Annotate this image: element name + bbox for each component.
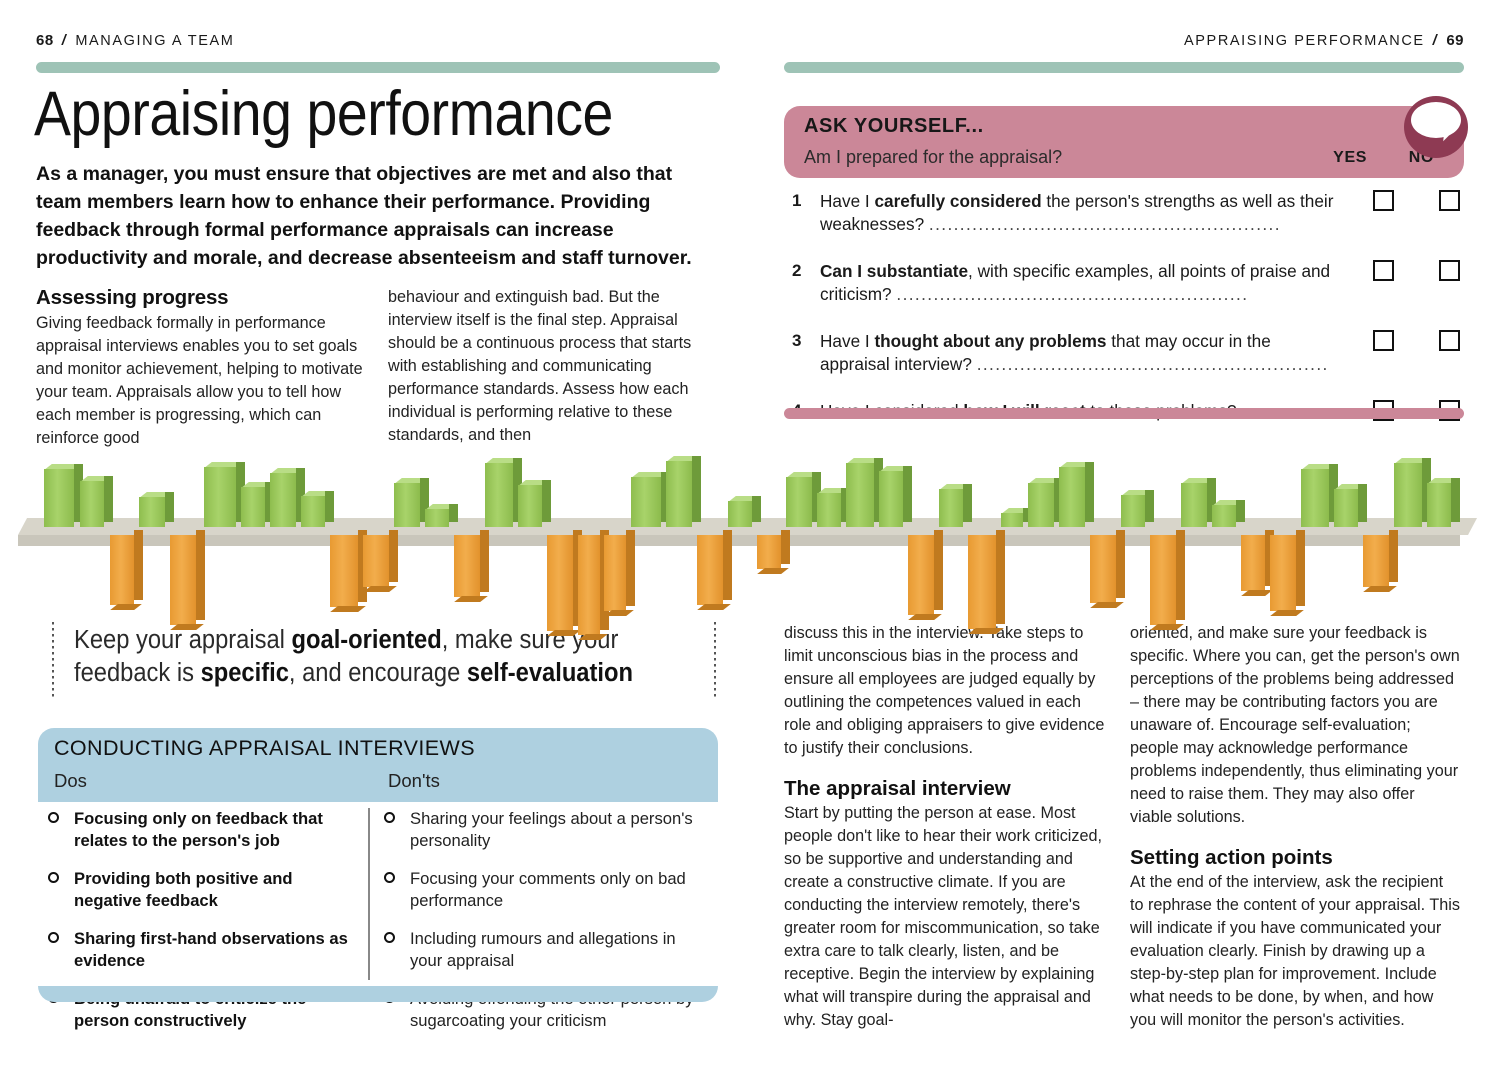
checkbox-no[interactable] bbox=[1439, 260, 1460, 281]
bar-negative bbox=[1150, 535, 1176, 625]
bar-front-face bbox=[270, 473, 296, 527]
bar-bottom-face bbox=[697, 604, 731, 610]
dos-list-item: Focusing only on feedback that relates t… bbox=[46, 808, 364, 851]
speech-bubble-tail bbox=[1443, 125, 1458, 142]
dotted-rule-left bbox=[52, 622, 54, 700]
bar-side-face bbox=[1085, 462, 1094, 522]
bar-side-face bbox=[1451, 478, 1460, 522]
bar-front-face bbox=[363, 535, 389, 587]
checkbox-no[interactable] bbox=[1439, 330, 1460, 351]
bar-positive bbox=[1301, 469, 1329, 527]
bar-negative bbox=[1270, 535, 1296, 611]
bar-positive bbox=[1212, 505, 1236, 527]
running-head-right: APPRAISING PERFORMANCE/69 bbox=[1184, 32, 1464, 49]
bar-front-face bbox=[1394, 463, 1422, 527]
bar-bottom-face bbox=[604, 610, 634, 616]
circle-bullet-icon bbox=[48, 872, 59, 883]
bar-side-face bbox=[1296, 530, 1305, 606]
bar-side-face bbox=[692, 456, 701, 522]
dos-list-item: Sharing first-hand observations as evide… bbox=[46, 928, 364, 971]
running-head-left: 68/MANAGING A TEAM bbox=[36, 32, 234, 49]
bar-front-face bbox=[1334, 489, 1358, 527]
bar-bottom-face bbox=[1241, 590, 1273, 596]
yes-column-header: YES bbox=[1333, 149, 1367, 167]
bar-negative bbox=[1241, 535, 1265, 591]
dos-donts-panel-header: CONDUCTING APPRAISAL INTERVIEWS Dos Don'… bbox=[38, 728, 718, 802]
bar-positive bbox=[1001, 513, 1023, 527]
bar-front-face bbox=[1059, 467, 1085, 527]
bar-negative bbox=[1090, 535, 1116, 603]
chapter-title-left: MANAGING A TEAM bbox=[75, 33, 234, 49]
bar-negative bbox=[363, 535, 389, 587]
bar-front-face bbox=[604, 535, 626, 611]
header-rule-right bbox=[784, 62, 1464, 73]
bar-positive bbox=[1059, 467, 1085, 527]
bar-positive bbox=[786, 477, 812, 527]
bar-side-face bbox=[626, 530, 635, 606]
bar-positive bbox=[485, 463, 513, 527]
dos-donts-title: CONDUCTING APPRAISAL INTERVIEWS bbox=[54, 736, 475, 761]
bar-negative bbox=[968, 535, 996, 629]
bar-front-face bbox=[908, 535, 934, 615]
bar-positive bbox=[879, 471, 903, 527]
bar-negative bbox=[697, 535, 723, 605]
bar-side-face bbox=[934, 530, 943, 610]
checklist-row: 3Have I thought about any problems that … bbox=[792, 330, 1464, 386]
bar-side-face bbox=[1236, 500, 1245, 522]
checklist-row: 2Can I substantiate, with specific examp… bbox=[792, 260, 1464, 316]
bar-front-face bbox=[170, 535, 196, 625]
bar-front-face bbox=[578, 535, 600, 635]
page-spread: 68/MANAGING A TEAM APPRAISING PERFORMANC… bbox=[0, 0, 1500, 1072]
bar-bottom-face bbox=[110, 604, 142, 610]
bar-negative bbox=[110, 535, 134, 605]
assessing-progress-column-b: behaviour and extinguish bad. But the in… bbox=[388, 286, 718, 447]
bar-front-face bbox=[80, 481, 104, 527]
bar-positive bbox=[666, 461, 692, 527]
page-title: Appraising performance bbox=[34, 78, 613, 150]
bar-front-face bbox=[204, 467, 236, 527]
bar-side-face bbox=[134, 530, 143, 600]
bar-positive bbox=[817, 493, 841, 527]
ask-yourself-panel: ASK YOURSELF... Am I prepared for the ap… bbox=[784, 106, 1464, 178]
dotted-rule-right bbox=[714, 622, 716, 700]
pull-quote-emphasis: self-evaluation bbox=[467, 659, 633, 687]
checklist-question: Can I substantiate, with specific exampl… bbox=[820, 260, 1340, 307]
bar-positive bbox=[204, 467, 236, 527]
column-d-paragraph-1: oriented, and make sure your feedback is… bbox=[1130, 622, 1460, 829]
bar-negative bbox=[578, 535, 600, 635]
checkbox-yes[interactable] bbox=[1373, 260, 1394, 281]
bar-bottom-face bbox=[1363, 586, 1397, 592]
dos-donts-panel-footer bbox=[38, 986, 718, 1002]
column-d-paragraph-2: At the end of the interview, ask the rec… bbox=[1130, 871, 1460, 1032]
bar-positive bbox=[80, 481, 104, 527]
donts-list: Sharing your feelings about a person's p… bbox=[382, 808, 700, 1049]
bar-front-face bbox=[817, 493, 841, 527]
checklist-question: Have I carefully considered the person's… bbox=[820, 190, 1340, 237]
bar-side-face bbox=[723, 530, 732, 600]
folio-right: 69 bbox=[1446, 32, 1464, 49]
bar-negative bbox=[1363, 535, 1389, 587]
bar-front-face bbox=[939, 489, 963, 527]
bar-side-face bbox=[165, 492, 174, 522]
assessing-progress-text-b: behaviour and extinguish bad. But the in… bbox=[388, 286, 718, 447]
bar-side-face bbox=[449, 504, 458, 522]
dos-list: Focusing only on feedback that relates t… bbox=[46, 808, 364, 1049]
bar-side-face bbox=[1176, 530, 1185, 620]
circle-bullet-icon bbox=[384, 932, 395, 943]
bar-front-face bbox=[454, 535, 480, 597]
bar-front-face bbox=[879, 471, 903, 527]
bar-front-face bbox=[1181, 483, 1207, 527]
bar-front-face bbox=[1090, 535, 1116, 603]
circle-bullet-icon bbox=[48, 932, 59, 943]
bar-front-face bbox=[631, 477, 661, 527]
bar-chart-illustration bbox=[18, 432, 1482, 612]
bar-positive bbox=[728, 501, 752, 527]
bar-front-face bbox=[666, 461, 692, 527]
bar-side-face bbox=[542, 480, 551, 522]
bar-front-face bbox=[394, 483, 420, 527]
circle-bullet-icon bbox=[384, 872, 395, 883]
bar-negative bbox=[547, 535, 573, 631]
bar-side-face bbox=[325, 491, 334, 522]
column-c-paragraph-1: discuss this in the interview. Take step… bbox=[784, 622, 1110, 760]
bar-front-face bbox=[1270, 535, 1296, 611]
bar-negative bbox=[757, 535, 781, 569]
bar-bottom-face bbox=[1270, 610, 1304, 616]
bar-bottom-face bbox=[330, 606, 366, 612]
bar-side-face bbox=[480, 530, 489, 592]
bar-front-face bbox=[1121, 495, 1145, 527]
setting-action-points-heading: Setting action points bbox=[1130, 846, 1460, 870]
bar-front-face bbox=[1150, 535, 1176, 625]
circle-bullet-icon bbox=[48, 812, 59, 823]
bar-positive bbox=[1181, 483, 1207, 527]
ask-yourself-question: Am I prepared for the appraisal? bbox=[804, 147, 1062, 168]
bar-side-face bbox=[903, 466, 912, 522]
bar-front-face bbox=[241, 487, 265, 527]
bar-side-face bbox=[996, 530, 1005, 624]
bar-front-face bbox=[1301, 469, 1329, 527]
bar-bottom-face bbox=[908, 614, 942, 620]
column-c: discuss this in the interview. Take step… bbox=[784, 622, 1110, 1032]
bar-side-face bbox=[752, 496, 761, 522]
slash-right: / bbox=[1433, 33, 1439, 49]
assessing-progress-text-a: Giving feedback formally in performance … bbox=[36, 312, 366, 450]
bar-front-face bbox=[1427, 483, 1451, 527]
donts-list-item: Focusing your comments only on bad perfo… bbox=[382, 868, 700, 911]
assessing-progress-heading: Assessing progress bbox=[36, 286, 366, 310]
checklist-number: 1 bbox=[792, 191, 810, 211]
bar-positive bbox=[518, 485, 542, 527]
bar-side-face bbox=[963, 484, 972, 522]
checklist-question: Have I thought about any problems that m… bbox=[820, 330, 1340, 377]
bar-front-face bbox=[518, 485, 542, 527]
bar-front-face bbox=[728, 501, 752, 527]
bar-front-face bbox=[44, 469, 74, 527]
bar-front-face bbox=[301, 496, 325, 527]
slash-left: / bbox=[62, 33, 68, 49]
donts-column-label: Don'ts bbox=[388, 770, 440, 792]
folio-left: 68 bbox=[36, 32, 54, 49]
checkbox-yes[interactable] bbox=[1373, 190, 1394, 211]
bar-front-face bbox=[1001, 513, 1023, 527]
column-d: oriented, and make sure your feedback is… bbox=[1130, 622, 1460, 1032]
bar-positive bbox=[425, 509, 449, 527]
dos-donts-divider bbox=[368, 808, 370, 980]
bar-positive bbox=[394, 483, 420, 527]
dos-list-item: Providing both positive and negative fee… bbox=[46, 868, 364, 911]
pull-quote-emphasis: specific bbox=[201, 659, 289, 687]
bar-side-face bbox=[1145, 490, 1154, 522]
bar-front-face bbox=[547, 535, 573, 631]
checkbox-no[interactable] bbox=[1439, 190, 1460, 211]
bar-front-face bbox=[1028, 483, 1054, 527]
bar-negative bbox=[908, 535, 934, 615]
pink-divider-rule bbox=[784, 408, 1464, 419]
bar-front-face bbox=[757, 535, 781, 569]
bar-front-face bbox=[1241, 535, 1265, 591]
bar-positive bbox=[939, 489, 963, 527]
appraisal-interview-heading: The appraisal interview bbox=[784, 777, 1110, 801]
bar-negative bbox=[170, 535, 196, 625]
bar-front-face bbox=[110, 535, 134, 605]
bar-side-face bbox=[1389, 530, 1398, 582]
bar-positive bbox=[1028, 483, 1054, 527]
bar-positive bbox=[139, 497, 165, 527]
bar-front-face bbox=[330, 535, 358, 607]
bar-positive bbox=[270, 473, 296, 527]
checklist-row: 1Have I carefully considered the person'… bbox=[792, 190, 1464, 246]
bar-positive bbox=[1394, 463, 1422, 527]
speech-bubble-icon bbox=[1404, 96, 1468, 158]
bar-bottom-face bbox=[1090, 602, 1124, 608]
checkbox-yes[interactable] bbox=[1373, 330, 1394, 351]
standfirst-paragraph: As a manager, you must ensure that objec… bbox=[36, 160, 696, 272]
bar-bottom-face bbox=[757, 568, 789, 574]
bar-side-face bbox=[389, 530, 398, 582]
bar-front-face bbox=[139, 497, 165, 527]
bar-positive bbox=[846, 463, 874, 527]
bar-bottom-face bbox=[454, 596, 488, 602]
column-c-paragraph-2: Start by putting the person at ease. Mos… bbox=[784, 802, 1110, 1032]
bar-side-face bbox=[196, 530, 205, 620]
dos-column-label: Dos bbox=[54, 770, 87, 792]
donts-list-item: Including rumours and allegations in you… bbox=[382, 928, 700, 971]
pull-quote-block: Keep your appraisal goal-oriented, make … bbox=[52, 622, 716, 700]
header-rule-left bbox=[36, 62, 720, 73]
bar-front-face bbox=[697, 535, 723, 605]
bar-side-face bbox=[1116, 530, 1125, 598]
bar-bottom-face bbox=[363, 586, 397, 592]
bar-positive bbox=[241, 487, 265, 527]
bar-front-face bbox=[485, 463, 513, 527]
bar-front-face bbox=[846, 463, 874, 527]
bar-front-face bbox=[1212, 505, 1236, 527]
bar-positive bbox=[1334, 489, 1358, 527]
bar-side-face bbox=[104, 476, 113, 522]
ask-yourself-title: ASK YOURSELF... bbox=[804, 115, 984, 138]
ask-yourself-checklist: 1Have I carefully considered the person'… bbox=[792, 190, 1464, 470]
bar-positive bbox=[44, 469, 74, 527]
bar-positive bbox=[631, 477, 661, 527]
bar-negative bbox=[604, 535, 626, 611]
circle-bullet-icon bbox=[384, 812, 395, 823]
bar-positive bbox=[1121, 495, 1145, 527]
donts-list-item: Sharing your feelings about a person's p… bbox=[382, 808, 700, 851]
bar-side-face bbox=[1358, 484, 1367, 522]
bar-front-face bbox=[968, 535, 996, 629]
bar-positive bbox=[1427, 483, 1451, 527]
bar-positive bbox=[301, 496, 325, 527]
bar-front-face bbox=[1363, 535, 1389, 587]
chapter-title-right: APPRAISING PERFORMANCE bbox=[1184, 33, 1425, 49]
pull-quote-emphasis: goal-oriented bbox=[292, 626, 442, 654]
bar-side-face bbox=[781, 530, 790, 564]
bar-front-face bbox=[425, 509, 449, 527]
assessing-progress-column-a: Assessing progress Giving feedback forma… bbox=[36, 286, 366, 450]
bar-front-face bbox=[786, 477, 812, 527]
checklist-number: 3 bbox=[792, 331, 810, 351]
bar-negative bbox=[454, 535, 480, 597]
bar-negative bbox=[330, 535, 358, 607]
checklist-number: 2 bbox=[792, 261, 810, 281]
